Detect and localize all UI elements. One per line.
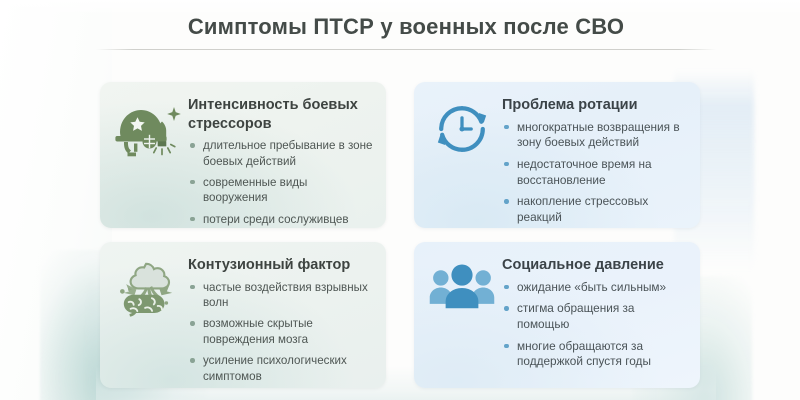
card-intensity-of-combat-stressors[interactable]: Интенсивность боевых стрессоров длительн… bbox=[100, 82, 386, 228]
card-rotation-problem[interactable]: Проблема ротации многократные возвращени… bbox=[414, 82, 700, 228]
list-item: накопление стрессовых реакций bbox=[502, 194, 688, 225]
group-of-people-icon bbox=[426, 258, 498, 320]
card-heading: Социальное давление bbox=[502, 256, 688, 275]
slide-canvas: Симптомы ПТСР у военных после СВО bbox=[0, 0, 800, 400]
list-item: усиление психологических симптомов bbox=[188, 353, 374, 384]
list-item: потери среди сослуживцев bbox=[188, 212, 374, 227]
card-bullet-list: длительное пребывание в зоне боевых дейс… bbox=[188, 138, 374, 227]
card-heading: Проблема ротации bbox=[502, 96, 688, 115]
list-item: длительное пребывание в зоне боевых дейс… bbox=[188, 138, 374, 169]
list-item: стигма обращения за помощью bbox=[502, 301, 688, 332]
card-bullet-list: многократные возвращения в зону боевых д… bbox=[502, 120, 688, 226]
card-bullet-list: ожидание «быть сильным» стигма обращения… bbox=[502, 280, 688, 370]
list-item: частые воздействия взрывных волн bbox=[188, 280, 374, 311]
card-social-pressure[interactable]: Социальное давление ожидание «быть сильн… bbox=[414, 242, 700, 388]
card-body: Социальное давление ожидание «быть сильн… bbox=[502, 254, 688, 370]
military-helmet-icon bbox=[112, 98, 184, 160]
card-bullet-list: частые воздействия взрывных волн возможн… bbox=[188, 280, 374, 384]
title-divider bbox=[96, 49, 716, 50]
slide-header: Симптомы ПТСР у военных после СВО bbox=[96, 14, 716, 50]
card-heading: Контузионный фактор bbox=[188, 256, 374, 275]
list-item: современные виды вооружения bbox=[188, 175, 374, 206]
page-title: Симптомы ПТСР у военных после СВО bbox=[96, 14, 716, 40]
card-heading: Интенсивность боевых стрессоров bbox=[188, 96, 374, 133]
list-item: многократные возвращения в зону боевых д… bbox=[502, 120, 688, 151]
card-concussion-factor[interactable]: Контузионный фактор частые воздействия в… bbox=[100, 242, 386, 388]
left-background-band bbox=[0, 0, 112, 400]
card-body: Проблема ротации многократные возвращени… bbox=[502, 94, 688, 226]
cards-grid: Интенсивность боевых стрессоров длительн… bbox=[100, 82, 700, 388]
list-item: ожидание «быть сильным» bbox=[502, 280, 688, 296]
card-body: Интенсивность боевых стрессоров длительн… bbox=[188, 94, 374, 227]
list-item: многие обращаются за поддержкой спустя г… bbox=[502, 339, 688, 370]
clock-rotation-icon bbox=[426, 98, 498, 160]
list-item: недостаточное время на восстановление bbox=[502, 157, 688, 188]
card-body: Контузионный фактор частые воздействия в… bbox=[188, 254, 374, 384]
brain-blast-icon bbox=[112, 258, 184, 320]
list-item: возможные скрытые повреждения мозга bbox=[188, 316, 374, 347]
